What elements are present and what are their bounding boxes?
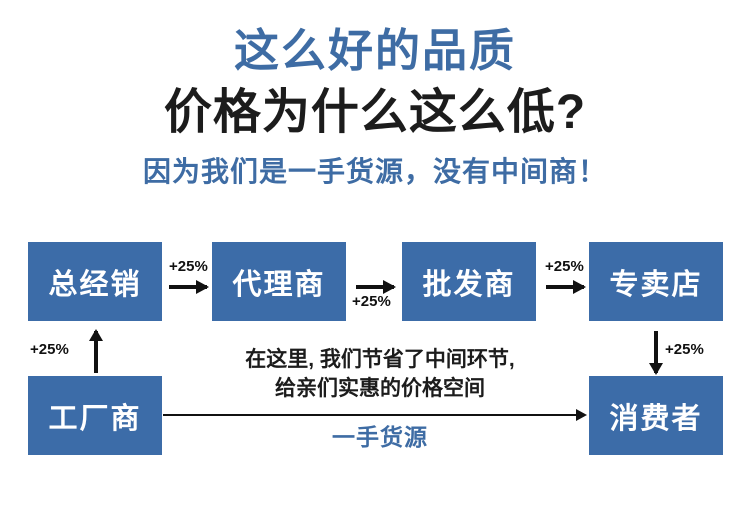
arrow-distributor-to-agent (169, 285, 207, 289)
flow-node-factory: 工厂商 (28, 376, 162, 455)
tagline-first-hand-supply: 一手货源 (190, 423, 570, 451)
markup-store-to-consumer: +25% (665, 341, 704, 358)
markup-distributor-to-agent: +25% (169, 258, 208, 275)
markup-agent-to-wholesaler: +25% (352, 293, 391, 310)
subtitle-first-hand-supply: 因为我们是一手货源，没有中间商！ (0, 155, 750, 189)
markup-wholesaler-to-store: +25% (545, 258, 584, 275)
arrow-factory-to-consumer-direct (163, 414, 585, 416)
arrow-factory-to-distributor (94, 331, 98, 373)
markup-factory-to-distributor: +25% (30, 341, 69, 358)
arrow-store-to-consumer (654, 331, 658, 373)
arrow-agent-to-wholesaler (356, 285, 394, 289)
flow-node-exclusive-store: 专卖店 (589, 242, 723, 321)
promo-poster: 这么好的品质 价格为什么这么低? 因为我们是一手货源，没有中间商！ 总经销 代理… (0, 0, 750, 511)
center-note-line1: 在这里, 我们节省了中间环节, (190, 345, 570, 374)
headline-quality: 这么好的品质 (0, 26, 750, 76)
flow-node-general-distributor: 总经销 (28, 242, 162, 321)
flow-node-wholesaler: 批发商 (402, 242, 536, 321)
center-note: 在这里, 我们节省了中间环节, 给亲们实惠的价格空间 (190, 345, 570, 403)
headline-price-question: 价格为什么这么低? (0, 86, 750, 140)
flow-node-consumer: 消费者 (589, 376, 723, 455)
arrow-wholesaler-to-store (546, 285, 584, 289)
flow-node-agent: 代理商 (212, 242, 346, 321)
center-note-line2: 给亲们实惠的价格空间 (190, 374, 570, 403)
